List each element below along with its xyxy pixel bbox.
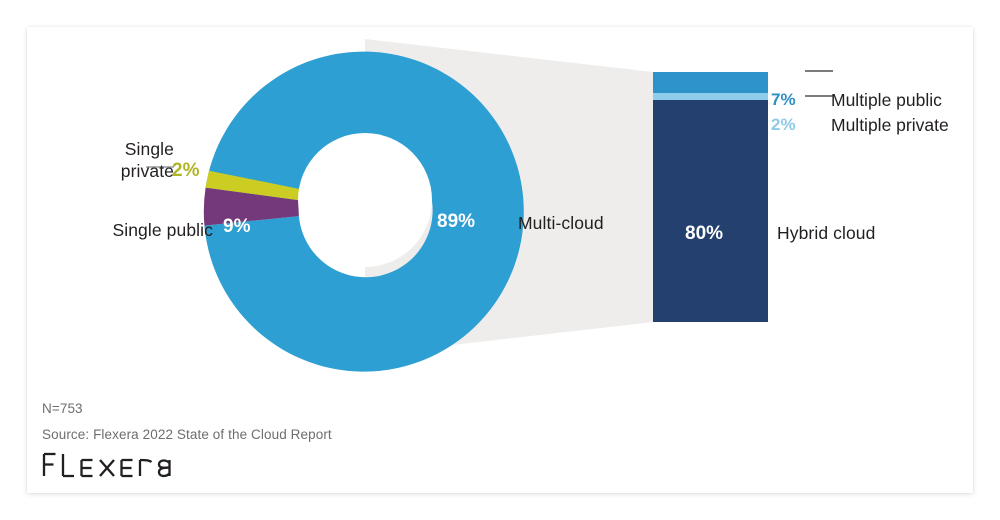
- donut-label-multi-cloud: Multi-cloud: [518, 213, 604, 234]
- bar-label-hybrid-cloud: Hybrid cloud: [777, 223, 875, 244]
- bar-segment-hybrid-cloud: [653, 100, 768, 322]
- infographic-card: Single private 2% Single public 9% 89% M…: [27, 27, 973, 493]
- donut-value-single-public: 9%: [223, 216, 250, 238]
- legend-value-multiple-public: 7%: [771, 90, 796, 110]
- legend-label-multiple-public: Multiple public: [831, 90, 942, 111]
- bar-value-hybrid-cloud: 80%: [685, 223, 723, 245]
- donut-label-single-private-line2: private: [121, 161, 174, 181]
- donut-label-single-public: Single public: [80, 220, 213, 241]
- legend-value-multiple-private: 2%: [771, 115, 796, 135]
- donut-hole: [298, 133, 432, 267]
- source-note: Source: Flexera 2022 State of the Cloud …: [42, 427, 332, 442]
- cloud-adoption-figure: Single private 2% Single public 9% 89% M…: [27, 27, 973, 493]
- bar-segment-multiple-private: [653, 93, 768, 100]
- donut-label-single-private: Single private: [82, 138, 174, 183]
- screenshot-canvas: Single private 2% Single public 9% 89% M…: [0, 0, 1000, 520]
- bar-segment-multiple-public: [653, 72, 768, 93]
- flexera-logo: [42, 450, 172, 480]
- donut-value-multi-cloud: 89%: [437, 211, 475, 233]
- sample-size-note: N=753: [42, 401, 83, 416]
- donut-label-single-private-line1: Single: [125, 139, 174, 159]
- stacked-bar: [653, 72, 768, 322]
- donut-value-single-private: 2%: [172, 160, 199, 182]
- legend-label-multiple-private: Multiple private: [831, 115, 949, 136]
- donut-chart: [204, 52, 524, 372]
